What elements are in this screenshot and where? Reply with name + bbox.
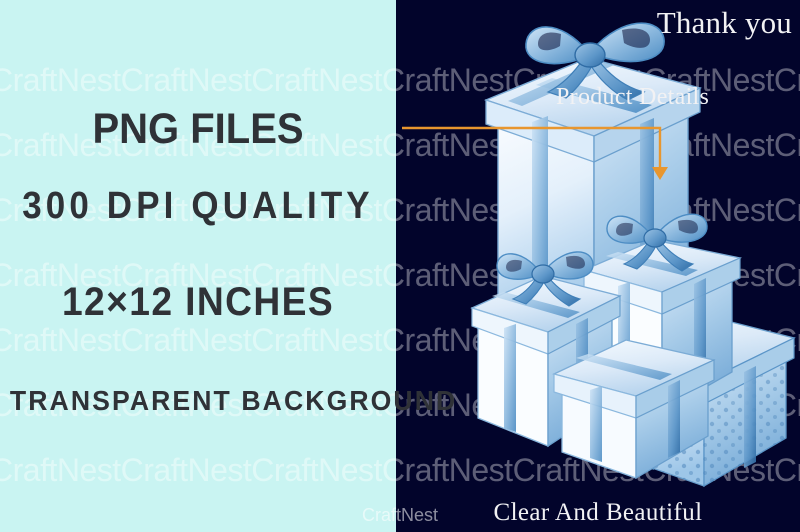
product-details-heading: Product Details — [556, 84, 709, 111]
feature-dimensions: 12×12 INCHES — [14, 280, 382, 325]
feature-transparent-background: TRANSPARENT BACKGROUND — [10, 385, 386, 417]
gift-boxes-illustration — [456, 0, 796, 500]
product-details-arrow — [396, 110, 800, 185]
right-showcase-panel: Thank you Product Details Clear And Beau… — [396, 0, 800, 532]
feature-dpi-quality: 300 DPI QUALITY — [16, 185, 380, 228]
feature-list: PNG FILES 300 DPI QUALITY 12×12 INCHES T… — [0, 0, 396, 532]
feature-png-files: PNG FILES — [14, 105, 382, 154]
arrow-head — [652, 167, 668, 180]
footer-tagline: Clear And Beautiful — [396, 499, 800, 527]
product-mockup-canvas: Thank you Product Details Clear And Beau… — [0, 0, 800, 532]
thank-you-heading: Thank you — [657, 5, 792, 41]
arrow-line — [402, 128, 660, 168]
